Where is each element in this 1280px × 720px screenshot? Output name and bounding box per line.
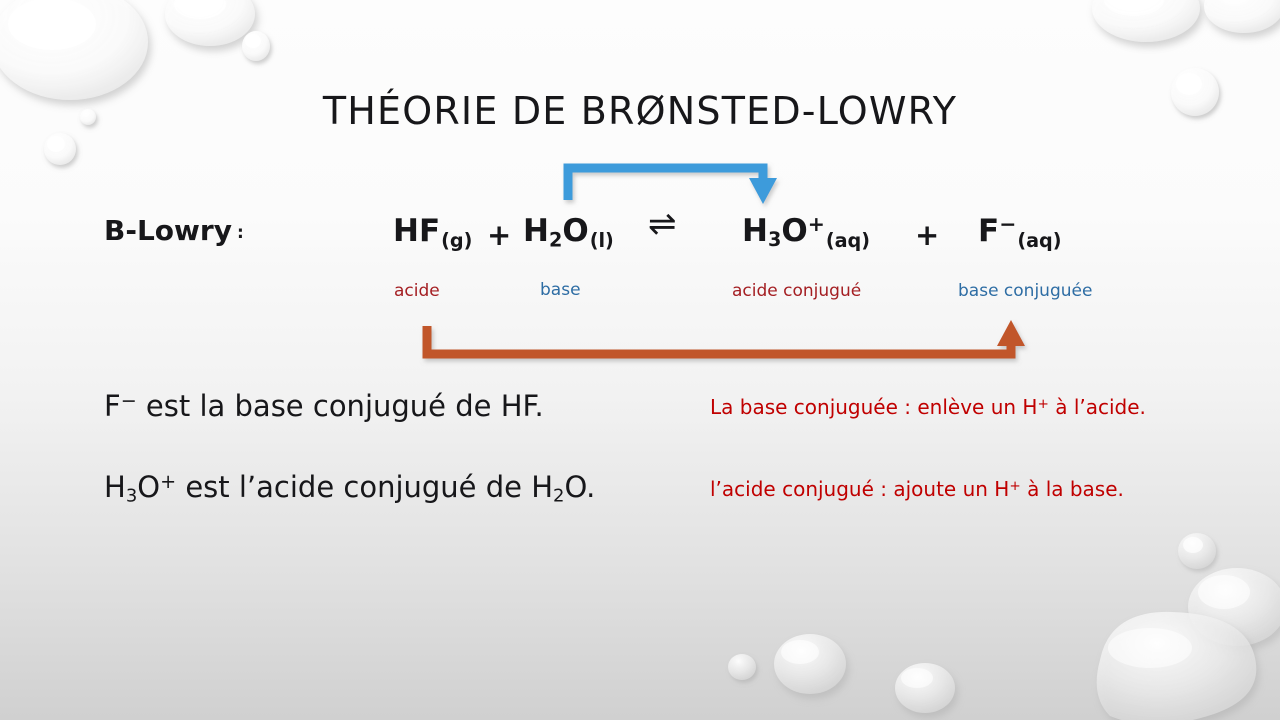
product-hydronium-state: (aq) [826, 229, 870, 252]
product-fluoride-state: (aq) [1017, 229, 1061, 252]
equation-label-text: B-Lowry [104, 214, 232, 247]
statement-hydronium-acide-conjugue: H3O+ est l’acide conjugué de H2O. [104, 470, 595, 507]
statement-2-text: est l’acide conjugué de H [176, 470, 553, 504]
role-label-acide: acide [394, 281, 440, 301]
note-base-conjuguee: La base conjuguée : enlève un H+ à l’aci… [710, 395, 1146, 419]
presentation-slide: THÉORIE DE BRØNSTED-LOWRY B-Lowry: HF(g)… [0, 0, 1280, 720]
note-1-post: à l’acide. [1049, 395, 1146, 419]
equation-row-label: B-Lowry: [104, 214, 244, 247]
reactant-water-state: (l) [590, 229, 614, 252]
equation-plus-1: + [487, 218, 511, 252]
statement-fluoride-base-conjugue: F− est la base conjugué de HF. [104, 389, 544, 423]
statement-1-text: est la base conjugué de HF. [137, 389, 544, 423]
role-label-base: base [540, 280, 581, 300]
equation-plus-2: + [915, 218, 939, 252]
product-fluoride: F−(aq) [978, 214, 1062, 250]
product-hydronium: H3O+(aq) [742, 214, 870, 250]
acide-to-base-conjuguee-arrow [0, 0, 1280, 720]
role-label-base-conjuguee: base conjuguée [958, 281, 1092, 301]
note-1-sup: + [1037, 396, 1048, 412]
reactant-water: H2O(l) [523, 216, 614, 250]
equation-label-colon: : [237, 223, 244, 243]
note-2-post: à la base. [1021, 477, 1124, 501]
reactant-hf-state: (g) [441, 229, 472, 252]
reactant-hf: HF(g) [393, 216, 472, 250]
note-2-pre: l’acide conjugué : ajoute un H [710, 477, 1009, 501]
role-label-acide-conjugue: acide conjugué [732, 281, 861, 301]
equilibrium-arrow-symbol: ⇌ [648, 207, 677, 241]
note-1-pre: La base conjuguée : enlève un H [710, 395, 1037, 419]
note-2-sup: + [1009, 478, 1020, 494]
note-acide-conjugue: l’acide conjugué : ajoute un H+ à la bas… [710, 477, 1124, 501]
